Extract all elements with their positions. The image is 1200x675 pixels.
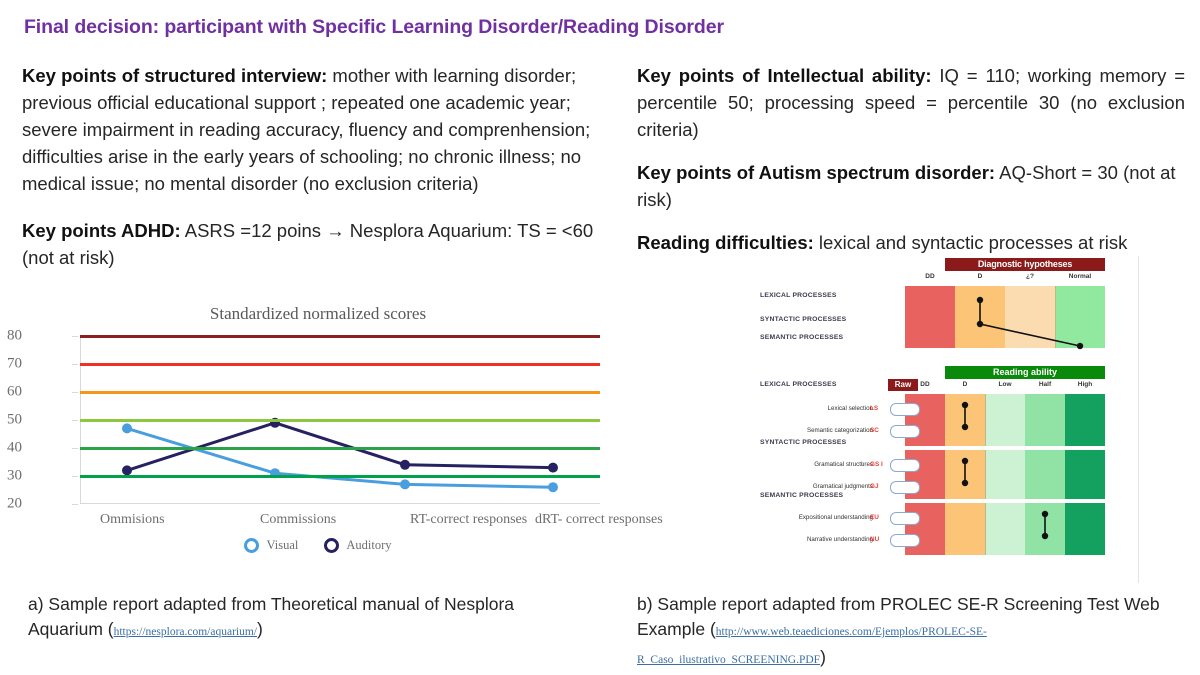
diagnostic-row-label: LEXICAL PROCESSES xyxy=(760,292,837,299)
diagnostic-row-label: SYNTACTIC PROCESSES xyxy=(760,316,846,323)
caption-left-tail: ) xyxy=(257,619,263,639)
chart-y-tick-label: 70 xyxy=(7,356,22,373)
adhd-label: Key points ADHD: xyxy=(22,220,181,241)
subtest-code: NU xyxy=(870,536,879,543)
reading-column-header: D xyxy=(945,381,985,392)
reading-column-header: Low xyxy=(985,381,1025,392)
chart-line-visual xyxy=(127,428,553,487)
chart-reference-line xyxy=(80,363,600,366)
reading-difficulties-text: lexical and syntactic processes at risk xyxy=(814,232,1128,253)
diagnostic-cell-dd xyxy=(905,286,955,348)
chart-legend: Visual Auditory xyxy=(18,538,618,553)
chart-y-tick-label: 40 xyxy=(7,440,22,457)
chart-y-tick-label: 20 xyxy=(7,496,22,513)
autism-paragraph: Key points of Autism spectrum disorder: … xyxy=(637,159,1185,213)
reading-cell-high xyxy=(1065,394,1105,446)
diagnostic-cell- xyxy=(1005,286,1055,348)
chart-x-category-label: Ommisions xyxy=(100,512,165,528)
subtest-code: GS I xyxy=(870,461,883,468)
nesplora-link[interactable]: https://nesplora.com/aquarium/ xyxy=(114,626,257,638)
reading-difficulties-label: Reading difficulties: xyxy=(637,232,814,253)
chart-reference-line xyxy=(80,419,600,422)
subtest-code: EU xyxy=(870,514,879,521)
chart-y-tick xyxy=(72,420,78,421)
chart-title: Standardized normalized scores xyxy=(18,304,618,324)
chart-y-tick xyxy=(72,504,78,505)
chart-y-tick-label: 50 xyxy=(7,412,22,429)
reading-cell-half xyxy=(1025,503,1065,555)
chart-x-category-label: dRT- correct responses xyxy=(535,512,663,528)
subtest-extra-marker: I xyxy=(861,461,863,468)
diagnostic-cell-d xyxy=(955,286,1005,348)
auditory-series-icon xyxy=(324,538,339,553)
chart-y-tick xyxy=(72,336,78,337)
diagnostic-grid xyxy=(905,286,1105,348)
reading-cell-half xyxy=(1025,394,1065,446)
reading-cell-low xyxy=(985,450,1025,499)
diagnostic-hypotheses-banner: Diagnostic hypotheses xyxy=(945,258,1105,271)
chart-x-category-label: RT-correct responses xyxy=(410,512,527,528)
chart-x-category-label: Commissions xyxy=(260,512,336,528)
diagnostic-column-header: ¿? xyxy=(1005,273,1055,284)
chart-y-tick xyxy=(72,476,78,477)
reading-cell-dd xyxy=(905,503,945,555)
prolec-link-line2[interactable]: R_Caso_ilustrativo_SCREENING.PDF xyxy=(637,654,820,666)
chart-data-point xyxy=(400,479,410,489)
raw-score-input[interactable] xyxy=(890,425,920,438)
reading-cell-half xyxy=(1025,450,1065,499)
reading-cell-low xyxy=(985,394,1025,446)
reading-group-label: LEXICAL PROCESSES xyxy=(760,381,837,388)
reading-cell-d xyxy=(945,450,985,499)
diagnostic-cell-normal xyxy=(1055,286,1105,348)
chart-y-tick xyxy=(72,364,78,365)
structured-interview-label: Key points of structured interview: xyxy=(22,65,327,86)
caption-right-tail: ) xyxy=(820,647,826,667)
right-column: Key points of Intellectual ability: IQ =… xyxy=(637,62,1185,276)
caption-left: a) Sample report adapted from Theoretica… xyxy=(28,592,588,645)
raw-score-input[interactable] xyxy=(890,512,920,525)
chart-reference-line xyxy=(80,475,600,478)
subtest-code: GJ xyxy=(870,483,879,490)
subtest-name: Expositional understanding xyxy=(799,514,873,521)
reading-group-label: SEMANTIC PROCESSES xyxy=(760,492,843,499)
reading-cell-high xyxy=(1065,450,1105,499)
chart-data-point xyxy=(400,460,410,470)
reading-column-header: Half xyxy=(1025,381,1065,392)
reading-grid-1 xyxy=(905,450,1105,499)
prolec-link-line1[interactable]: http://www.web.teaediciones.com/Ejemplos… xyxy=(716,626,987,638)
legend-item-auditory: Auditory xyxy=(324,538,391,553)
caption-left-text: a) Sample report adapted from Theoretica… xyxy=(28,594,514,639)
subtest-code: SC xyxy=(870,427,879,434)
raw-score-input[interactable] xyxy=(890,481,920,494)
caption-right: b) Sample report adapted from PROLEC SE-… xyxy=(637,592,1197,673)
prolec-report: Diagnostic hypotheses Reading ability Ra… xyxy=(760,258,1135,583)
diagnostic-column-header: DD xyxy=(905,273,955,284)
raw-score-input[interactable] xyxy=(890,403,920,416)
reading-low-divider-0 xyxy=(985,394,986,446)
subtest-name: Gramatical judgments xyxy=(813,483,873,490)
structured-interview-paragraph: Key points of structured interview: moth… xyxy=(22,62,612,197)
subtest-name: Semantic categorization xyxy=(807,427,873,434)
panel-divider xyxy=(1138,256,1139,583)
nesplora-chart: Standardized normalized scores Ommisions… xyxy=(18,300,618,575)
subtest-code: LS xyxy=(870,405,878,412)
intellectual-ability-paragraph: Key points of Intellectual ability: IQ =… xyxy=(637,62,1185,143)
slide-root: Final decision: participant with Specifi… xyxy=(0,0,1200,675)
chart-data-point xyxy=(548,463,558,473)
legend-label-auditory: Auditory xyxy=(346,538,391,553)
reading-column-header: DD xyxy=(905,381,945,392)
reading-ability-banner: Reading ability xyxy=(945,366,1105,379)
raw-score-input[interactable] xyxy=(890,534,920,547)
chart-reference-line xyxy=(80,447,600,450)
chart-y-tick xyxy=(72,448,78,449)
reading-low-divider-2 xyxy=(985,503,986,555)
diagnostic-column-header: D xyxy=(955,273,1005,284)
reading-group-label: SYNTACTIC PROCESSES xyxy=(760,439,846,446)
chart-y-tick-label: 60 xyxy=(7,384,22,401)
subtest-name: Narrative understanding xyxy=(807,536,873,543)
reading-grid-2 xyxy=(905,503,1105,555)
diagnostic-normal-divider xyxy=(1055,286,1056,348)
intellectual-ability-label: Key points of Intellectual ability: xyxy=(637,65,932,86)
legend-item-visual: Visual xyxy=(244,538,298,553)
chart-y-tick-label: 30 xyxy=(7,468,22,485)
diagnostic-row-label: SEMANTIC PROCESSES xyxy=(760,334,843,341)
legend-label-visual: Visual xyxy=(266,538,298,553)
reading-cell-d xyxy=(945,503,985,555)
reading-grid-0 xyxy=(905,394,1105,446)
reading-cell-d xyxy=(945,394,985,446)
diagnostic-column-header: Normal xyxy=(1055,273,1105,284)
reading-cell-dd xyxy=(905,394,945,446)
reading-cell-high xyxy=(1065,503,1105,555)
visual-series-icon xyxy=(244,538,259,553)
chart-plot-area: OmmisionsCommissionsRT-correct responses… xyxy=(80,336,600,504)
left-column: Key points of structured interview: moth… xyxy=(22,62,612,291)
chart-y-tick-label: 80 xyxy=(7,328,22,345)
reading-cell-low xyxy=(985,503,1025,555)
reading-difficulties-paragraph: Reading difficulties: lexical and syntac… xyxy=(637,229,1185,256)
adhd-paragraph: Key points ADHD: ASRS =12 poins → Nesplo… xyxy=(22,217,612,271)
chart-y-tick xyxy=(72,392,78,393)
chart-reference-line xyxy=(80,391,600,394)
subtest-name: Lexical selection xyxy=(828,405,873,412)
reading-low-divider-1 xyxy=(985,450,986,499)
chart-data-point xyxy=(122,423,132,433)
chart-data-point xyxy=(548,482,558,492)
chart-reference-line xyxy=(80,335,600,338)
page-title: Final decision: participant with Specifi… xyxy=(24,16,724,39)
subtest-name: Gramatical structures xyxy=(814,461,873,468)
reading-column-header: High xyxy=(1065,381,1105,392)
autism-label: Key points of Autism spectrum disorder: xyxy=(637,162,995,183)
raw-score-input[interactable] xyxy=(890,459,920,472)
